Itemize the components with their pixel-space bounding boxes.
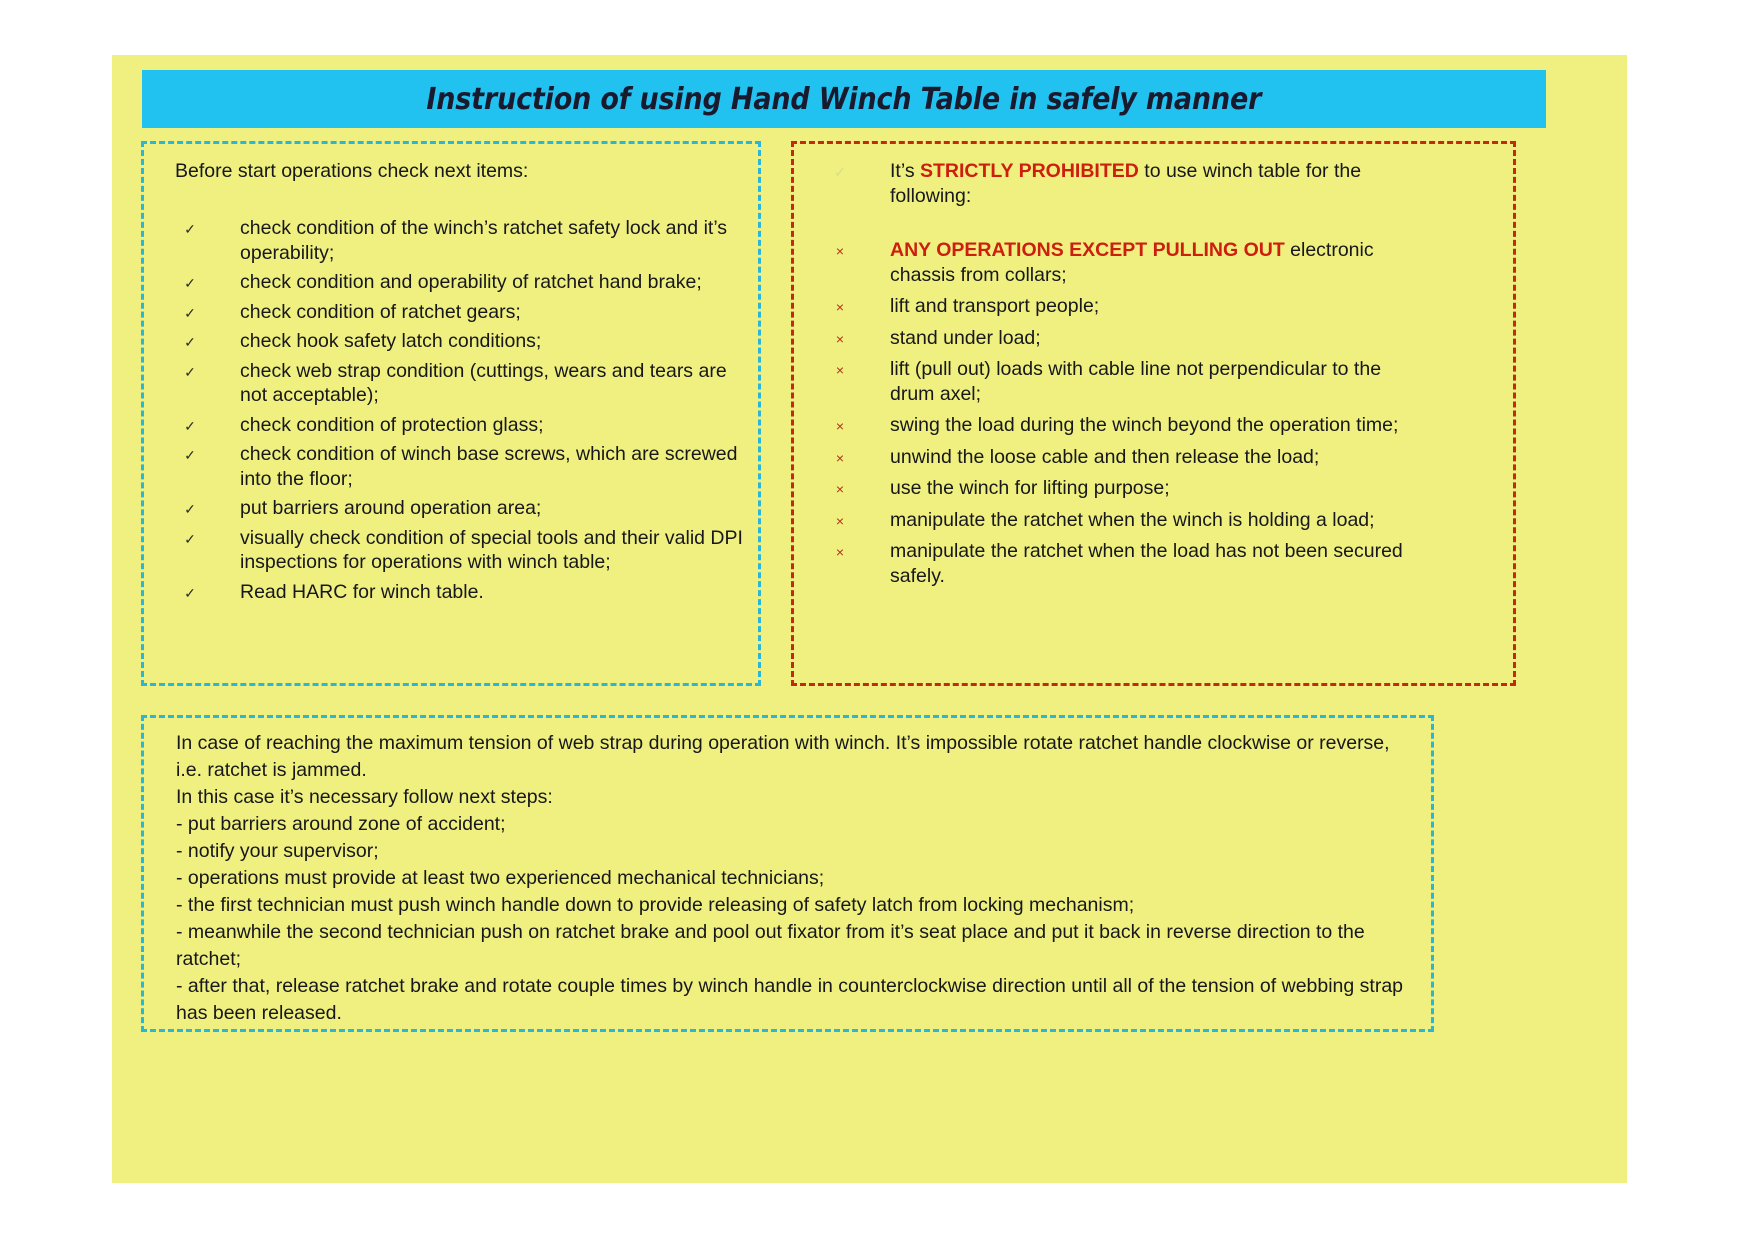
prohibited-list-item: ×lift (pull out) loads with cable line n… (890, 357, 1419, 406)
cross-mark-icon: × (832, 358, 848, 383)
title-bar: Instruction of using Hand Winch Table in… (142, 70, 1546, 128)
prohibited-list-item: ×stand under load; (890, 326, 1419, 351)
check-list-item-label: put barriers around operation area; (240, 497, 541, 519)
jam-procedure-line: In case of reaching the maximum tension … (176, 730, 1411, 784)
cross-mark-icon: × (832, 239, 848, 264)
check-list-item: ✓visually check condition of special too… (240, 526, 759, 575)
cross-mark-icon: × (832, 540, 848, 565)
cross-mark-icon: × (832, 477, 848, 502)
prohibited-lead-emphasis: STRICTLY PROHIBITED (920, 160, 1139, 182)
check-mark-icon: ✓ (182, 527, 198, 552)
prohibited-list-item: ×unwind the loose cable and then release… (890, 445, 1419, 470)
prohibited-list-item-label: lift (pull out) loads with cable line no… (890, 358, 1381, 405)
check-mark-icon: ✓ (182, 301, 198, 326)
check-list-item-label: check hook safety latch conditions; (240, 330, 541, 352)
prohibited-operations-panel: ✓It’s STRICTLY PROHIBITED to use winch t… (791, 141, 1516, 686)
check-mark-icon: ✓ (182, 360, 198, 385)
check-list-item: ✓check hook safety latch conditions; (240, 329, 759, 354)
check-mark-icon: ✓ (182, 581, 198, 606)
page-title: Instruction of using Hand Winch Table in… (427, 82, 1262, 117)
check-list-item-label: check condition of ratchet gears; (240, 301, 521, 323)
check-list-item-label: check condition of the winch’s ratchet s… (240, 217, 727, 264)
jam-procedure-line: - put barriers around zone of accident; (176, 811, 1411, 838)
jam-procedure-line: - operations must provide at least two e… (176, 865, 1411, 892)
prohibited-list-item-label: lift and transport people; (890, 295, 1099, 317)
check-list-item: ✓check condition of the winch’s ratchet … (240, 216, 759, 265)
check-list-item: ✓check condition of winch base screws, w… (240, 442, 759, 491)
prohibited-list-item: ×use the winch for lifting purpose; (890, 476, 1419, 501)
checks-intro-text: Before start operations check next items… (175, 159, 528, 183)
check-mark-icon: ✓ (182, 271, 198, 296)
check-mark-icon: ✓ (182, 443, 198, 468)
jam-procedure-line: In this case it’s necessary follow next … (176, 784, 1411, 811)
check-list-item: ✓check condition and operability of ratc… (240, 270, 759, 295)
jam-procedure-line: - meanwhile the second technician push o… (176, 919, 1411, 973)
check-list-item-label: check condition of winch base screws, wh… (240, 443, 737, 490)
check-mark-icon: ✓ (182, 217, 198, 242)
check-mark-icon: ✓ (182, 497, 198, 522)
prohibited-list-item-label: use the winch for lifting purpose; (890, 477, 1170, 499)
check-list-item-label: check condition and operability of ratch… (240, 271, 702, 293)
jam-procedure-line: - after that, release ratchet brake and … (176, 973, 1411, 1027)
check-list-item: ✓check web strap condition (cuttings, we… (240, 359, 759, 408)
checks-list: ✓check condition of the winch’s ratchet … (240, 216, 759, 609)
check-list-item-label: check web strap condition (cuttings, wea… (240, 360, 727, 407)
prohibited-list-item: ×ANY OPERATIONS EXCEPT PULLING OUT elect… (890, 238, 1419, 287)
check-list-item-label: visually check condition of special tool… (240, 527, 743, 574)
check-list-item-label: Read HARC for winch table. (240, 581, 484, 603)
instruction-poster-sheet: Instruction of using Hand Winch Table in… (112, 55, 1627, 1183)
check-mark-icon: ✓ (182, 330, 198, 355)
prohibited-list-item-label: stand under load; (890, 327, 1041, 349)
cross-mark-icon: × (832, 327, 848, 352)
jammed-ratchet-procedure-panel: In case of reaching the maximum tension … (141, 715, 1434, 1032)
cross-mark-icon: × (832, 446, 848, 471)
prohibited-first-item-emphasis: ANY OPERATIONS EXCEPT PULLING OUT (890, 239, 1285, 261)
check-list-item: ✓check condition of protection glass; (240, 413, 759, 438)
jam-procedure-line: - the first technician must push winch h… (176, 892, 1411, 919)
check-mark-icon: ✓ (832, 160, 848, 185)
prohibited-list-item-label: manipulate the ratchet when the winch is… (890, 509, 1375, 531)
prohibited-list-item: ×lift and transport people; (890, 294, 1419, 319)
jam-procedure-text: In case of reaching the maximum tension … (176, 730, 1411, 1027)
prohibited-list-item-label: unwind the loose cable and then release … (890, 446, 1319, 468)
check-mark-icon: ✓ (182, 414, 198, 439)
prohibited-list: ✓It’s STRICTLY PROHIBITED to use winch t… (890, 159, 1419, 595)
check-list-item: ✓put barriers around operation area; (240, 496, 759, 521)
check-list-item: ✓check condition of ratchet gears; (240, 300, 759, 325)
cross-mark-icon: × (832, 509, 848, 534)
check-list-item-label: check condition of protection glass; (240, 414, 544, 436)
cross-mark-icon: × (832, 295, 848, 320)
prohibited-lead-item: ✓It’s STRICTLY PROHIBITED to use winch t… (890, 159, 1419, 208)
prohibited-list-item: ×manipulate the ratchet when the winch i… (890, 508, 1419, 533)
jam-procedure-line: - notify your supervisor; (176, 838, 1411, 865)
prohibited-lead-prefix: It’s (890, 160, 920, 182)
check-list-item: ✓Read HARC for winch table. (240, 580, 759, 605)
prohibited-list-item: ×manipulate the ratchet when the load ha… (890, 539, 1419, 588)
cross-mark-icon: × (832, 414, 848, 439)
prohibited-list-item-label: swing the load during the winch beyond t… (890, 414, 1398, 436)
prohibited-list-item-label: manipulate the ratchet when the load has… (890, 540, 1403, 587)
pre-operation-checks-panel: Before start operations check next items… (141, 141, 761, 686)
prohibited-list-item: ×swing the load during the winch beyond … (890, 413, 1419, 438)
